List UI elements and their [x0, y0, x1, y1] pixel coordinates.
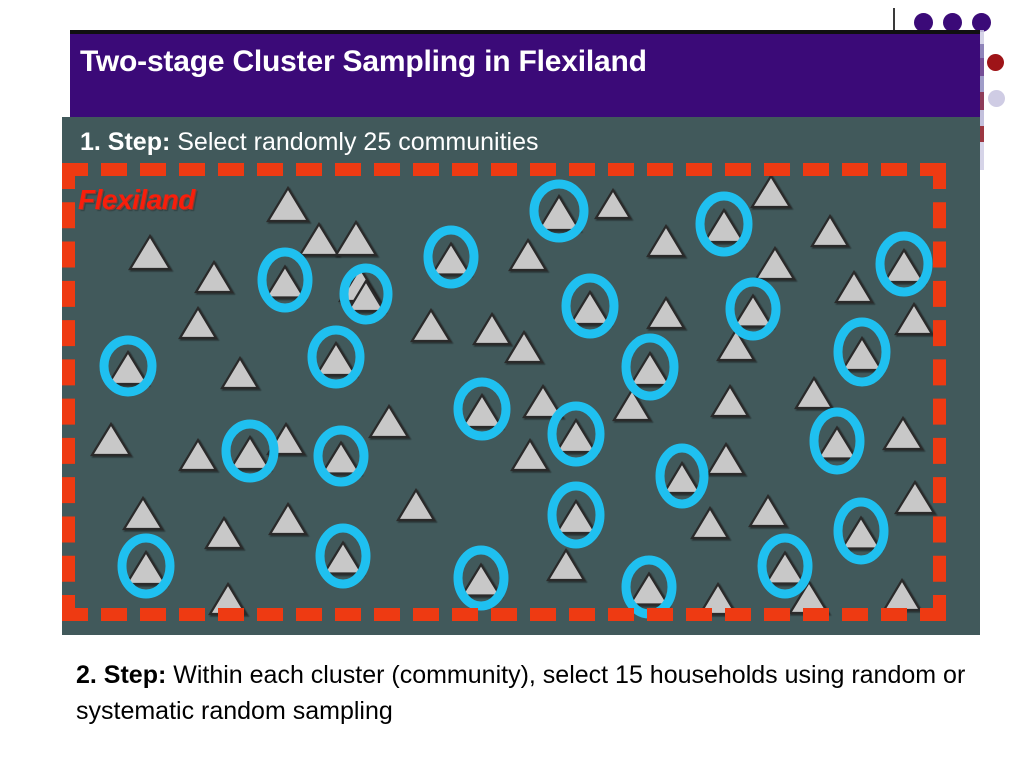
decorative-side-strip: [980, 30, 984, 170]
step-2-text: 2. Step: Within each cluster (community)…: [76, 658, 976, 729]
household-triangle-icon: [196, 262, 232, 292]
household-triangle-icon: [596, 190, 630, 218]
household-triangle-icon: [712, 386, 748, 416]
map-panel: [62, 117, 980, 635]
household-triangle-icon: [412, 310, 450, 341]
selected-community-triangle-icon: [885, 250, 924, 282]
selected-community-triangle-icon: [324, 543, 362, 574]
selected-community-triangle-icon: [322, 443, 360, 474]
household-triangle-icon: [648, 226, 684, 256]
household-triangle-icon: [398, 490, 434, 520]
household-triangle-icon: [750, 496, 786, 526]
selected-community-triangle-icon: [664, 463, 700, 493]
household-triangle-icon: [648, 298, 684, 328]
step-1-text: 1. Step: Select randomly 25 communities: [80, 128, 539, 157]
selected-community-triangle-icon: [631, 353, 670, 385]
selected-community-triangle-icon: [432, 244, 470, 275]
map-region-label: Flexiland: [78, 184, 195, 216]
household-triangle-icon: [884, 580, 920, 610]
household-triangle-icon: [300, 224, 338, 255]
selected-community-triangle-icon: [557, 501, 596, 533]
household-triangle-icon: [92, 424, 130, 455]
household-triangle-icon: [336, 222, 376, 255]
household-triangle-icon: [692, 508, 728, 538]
selected-community-triangle-icon: [734, 296, 772, 327]
step-1-description: Select randomly 25 communities: [170, 128, 538, 156]
step-2-description: Within each cluster (community), select …: [76, 661, 965, 725]
household-triangle-icon: [812, 216, 848, 246]
household-triangle-icon: [506, 332, 542, 362]
selected-community-triangle-icon: [842, 518, 880, 549]
household-triangle-icon: [896, 482, 934, 513]
selected-community-triangle-icon: [231, 437, 270, 469]
household-triangle-icon: [130, 236, 170, 269]
selected-community-triangle-icon: [630, 574, 668, 605]
household-triangle-icon: [370, 406, 408, 437]
selected-community-triangle-icon: [557, 420, 596, 452]
page-title: Two-stage Cluster Sampling in Flexiland: [80, 45, 960, 79]
household-triangle-icon: [796, 378, 832, 408]
household-triangle-icon: [756, 248, 794, 279]
household-triangle-icon: [884, 418, 922, 449]
selected-community-triangle-icon: [317, 343, 356, 375]
selected-community-triangle-icon: [463, 395, 502, 427]
household-triangle-icon: [512, 440, 548, 470]
decorative-red-dot-icon: [987, 54, 1004, 71]
step-1-label: 1. Step:: [80, 128, 170, 156]
household-triangle-icon: [474, 314, 510, 344]
selected-community-triangle-icon: [766, 553, 804, 584]
selected-community-triangle-icon: [571, 292, 610, 324]
household-triangle-icon: [836, 272, 872, 302]
household-triangle-icon: [222, 358, 258, 388]
selected-community-triangle-icon: [127, 552, 166, 584]
selected-community-triangle-icon: [539, 196, 580, 230]
household-triangle-icon: [700, 584, 736, 614]
household-triangle-icon: [896, 304, 932, 334]
household-triangle-icon: [270, 504, 306, 534]
household-triangle-icon: [752, 176, 790, 207]
selected-community-triangle-icon: [843, 338, 882, 370]
selected-community-triangle-icon: [109, 352, 148, 384]
household-triangle-icon: [708, 444, 744, 474]
selected-community-triangle-icon: [266, 267, 304, 298]
decorative-lavender-dot-icon: [988, 90, 1005, 107]
slide-canvas: Two-stage Cluster Sampling in Flexiland …: [0, 0, 1024, 768]
household-triangle-icon: [180, 308, 216, 338]
step-2-label: 2. Step:: [76, 661, 166, 689]
household-triangle-icon: [548, 550, 584, 580]
household-triangle-icon: [124, 498, 162, 529]
selected-community-triangle-icon: [462, 565, 500, 596]
selected-community-triangle-icon: [818, 428, 856, 459]
selected-community-triangle-icon: [705, 210, 744, 242]
household-triangle-icon: [180, 440, 216, 470]
household-triangle-icon: [268, 188, 308, 221]
household-triangle-icon: [206, 518, 242, 548]
household-triangle-icon: [210, 584, 246, 614]
household-triangle-icon: [510, 240, 546, 270]
map-marks-layer: [62, 117, 980, 635]
tick-mark-icon: [893, 8, 895, 32]
